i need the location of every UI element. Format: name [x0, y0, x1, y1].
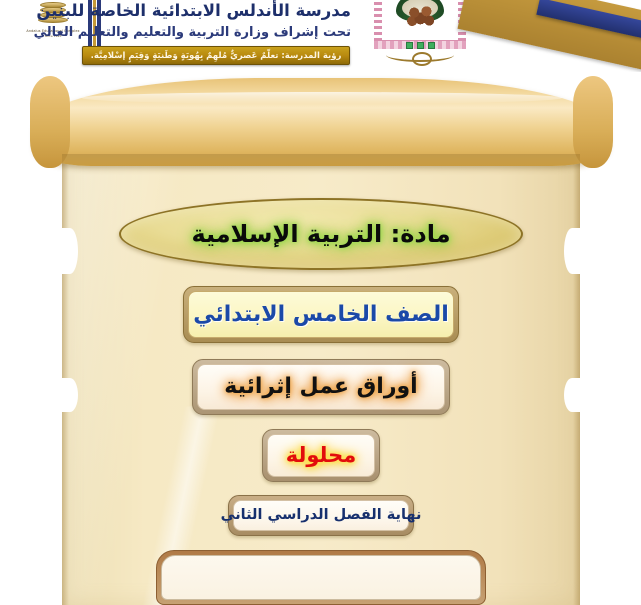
- solved-label: محلولة: [286, 443, 357, 467]
- worksheets-label: أوراق عمل إثرائية: [224, 374, 417, 399]
- scroll-top-roll: [34, 78, 609, 166]
- grade-label: الصف الخامس الابتدائي: [193, 302, 449, 327]
- vision-statement-text: رؤية المدرسة: تعلّمٌ عَصريٌّ مُلهِمٌ بِه…: [91, 51, 342, 61]
- term-label: نهاية الفصل الدراسي الثاني: [221, 507, 422, 523]
- scroll-content: مادة: التربية الإسلامية الصف الخامس الاب…: [62, 166, 580, 605]
- subject-badge: مادة: التربية الإسلامية: [119, 198, 523, 270]
- subject-label: مادة: التربية الإسلامية: [191, 220, 450, 248]
- bottom-partial-plaque: [156, 550, 486, 605]
- solved-plaque: محلولة: [262, 429, 380, 483]
- header-titles: مدرسة الأندلس الابتدائية الخاصة للبنين ت…: [104, 0, 351, 44]
- document-page: Andalus Educational Complex Since 1995 م…: [0, 0, 641, 605]
- ministry-supervision-line: تحت إشراف وزارة التربية والتعليم والتعلي…: [104, 22, 351, 44]
- vision-statement-ribbon: رؤية المدرسة: تعلّمٌ عَصريٌّ مُلهِمٌ بِه…: [82, 46, 350, 65]
- grade-plaque: الصف الخامس الابتدائي: [183, 286, 459, 343]
- ornamental-crest-icon: [368, 0, 472, 62]
- worksheets-plaque: أوراق عمل إثرائية: [192, 359, 450, 414]
- document-header: Andalus Educational Complex Since 1995 م…: [0, 0, 641, 72]
- school-name: مدرسة الأندلس الابتدائية الخاصة للبنين: [104, 0, 351, 22]
- term-plaque: نهاية الفصل الدراسي الثاني: [228, 495, 414, 536]
- parchment-scroll: مادة: التربية الإسلامية الصف الخامس الاب…: [0, 78, 641, 605]
